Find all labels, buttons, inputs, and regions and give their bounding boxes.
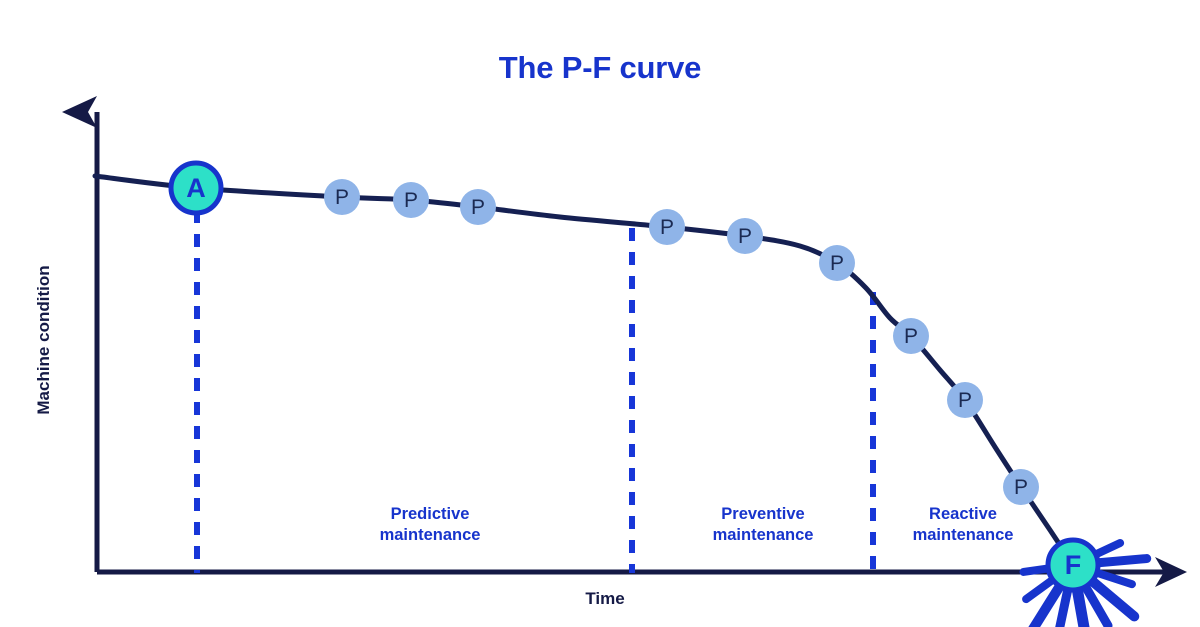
marker-p1[interactable]: P [324,179,360,215]
marker-label: P [958,389,972,412]
marker-label: P [830,252,844,275]
marker-label: P [738,225,752,248]
marker-label: P [1014,476,1028,499]
marker-p7[interactable]: P [893,318,929,354]
marker-label: P [471,196,485,219]
marker-p5[interactable]: P [727,218,763,254]
chart-canvas: APPPPPPPPPF [0,0,1200,627]
marker-label: P [335,186,349,209]
marker-label: P [660,216,674,239]
marker-p9[interactable]: P [1003,469,1039,505]
marker-p4[interactable]: P [649,209,685,245]
pf-curve-diagram: The P-F curve Machine condition Time Pre… [0,0,1200,627]
pf-curve-line [95,176,1073,565]
marker-p2[interactable]: P [393,182,429,218]
marker-a[interactable]: A [171,163,221,213]
marker-label: F [1065,550,1082,580]
zone-dividers [197,210,873,573]
marker-label: A [186,173,206,203]
marker-p8[interactable]: P [947,382,983,418]
marker-label: P [404,189,418,212]
marker-p6[interactable]: P [819,245,855,281]
marker-label: P [904,325,918,348]
marker-p3[interactable]: P [460,189,496,225]
marker-f[interactable]: F [1048,540,1098,590]
